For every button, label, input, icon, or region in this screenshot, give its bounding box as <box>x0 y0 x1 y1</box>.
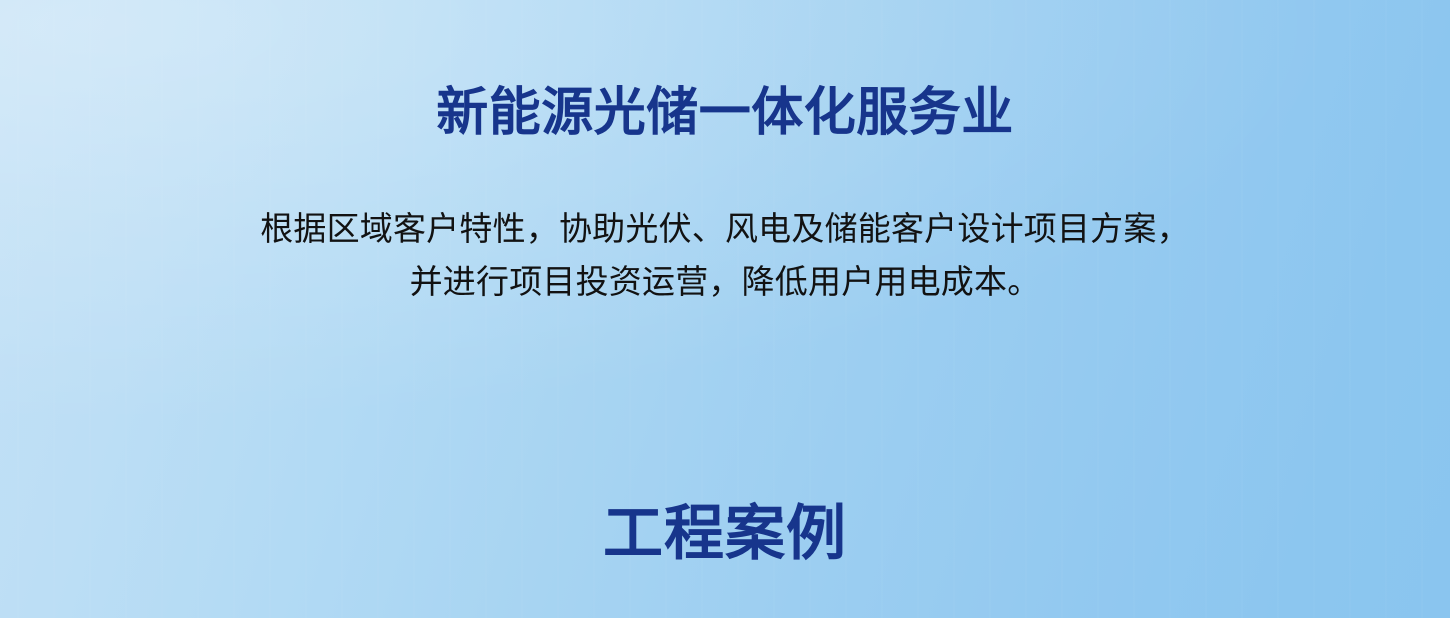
slide-content: 新能源光储一体化服务业 根据区域客户特性，协助光伏、风电及储能客户设计项目方案，… <box>0 0 1450 618</box>
description-line-1: 根据区域客户特性，协助光伏、风电及储能客户设计项目方案， <box>0 202 1450 255</box>
section-description: 根据区域客户特性，协助光伏、风电及储能客户设计项目方案， 并进行项目投资运营，降… <box>0 202 1450 308</box>
section-title: 新能源光储一体化服务业 <box>0 80 1450 146</box>
case-section-heading: 工程案例 <box>0 497 1450 571</box>
slide-canvas: 新能源光储一体化服务业 根据区域客户特性，协助光伏、风电及储能客户设计项目方案，… <box>0 0 1450 618</box>
description-line-2: 并进行项目投资运营，降低用户用电成本。 <box>0 255 1450 308</box>
